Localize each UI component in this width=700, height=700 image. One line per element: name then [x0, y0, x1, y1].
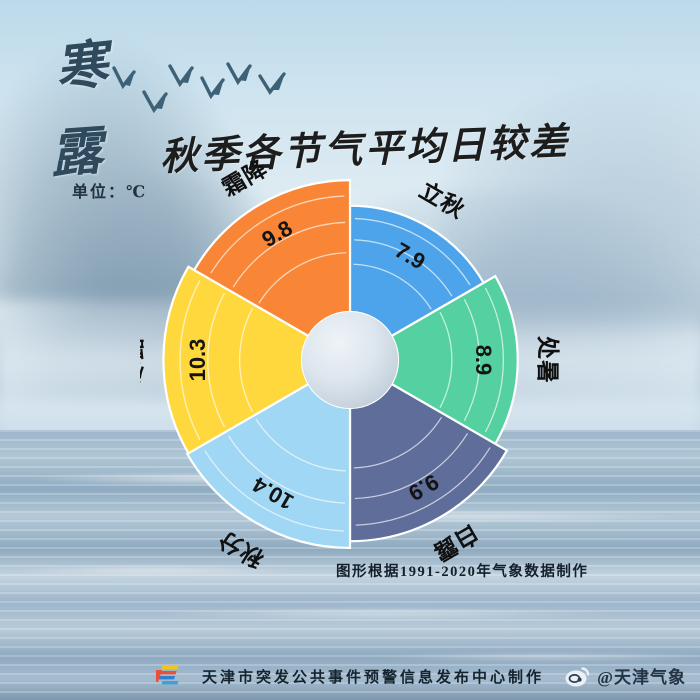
chart-center-hole: [302, 312, 398, 408]
source-note: 图形根据1991-2020年气象数据制作: [336, 560, 588, 581]
weibo-credit[interactable]: @天津气象: [565, 663, 686, 688]
chart-container: 7.98.99.910.410.39.8 立秋处暑白露秋分寒露霜降: [0, 0, 700, 700]
chart-category-label: 霜降: [218, 155, 272, 201]
weibo-icon: [565, 665, 591, 687]
chart-category-label: 处暑: [535, 335, 560, 384]
chart-value-label: 10.3: [185, 339, 210, 382]
weibo-handle: @天津气象: [597, 663, 686, 688]
chart-category-label: 寒露: [140, 336, 146, 384]
chart-category-label: 立秋: [415, 177, 470, 224]
issuer-text: 天津市突发公共事件预警信息发布中心制作: [202, 666, 544, 687]
chart-category-label: 秋分: [214, 526, 268, 570]
polar-area-donut-chart: 7.98.99.910.410.39.8 立秋处暑白露秋分寒露霜降: [140, 150, 560, 570]
poster-canvas: 寒 露 秋季各节气平均日较差 单位：℃ 7.98.99.910.410.39.8…: [0, 0, 700, 700]
tianjin-warning-center-logo-icon: [156, 661, 192, 691]
chart-value-label: 8.9: [471, 345, 496, 376]
